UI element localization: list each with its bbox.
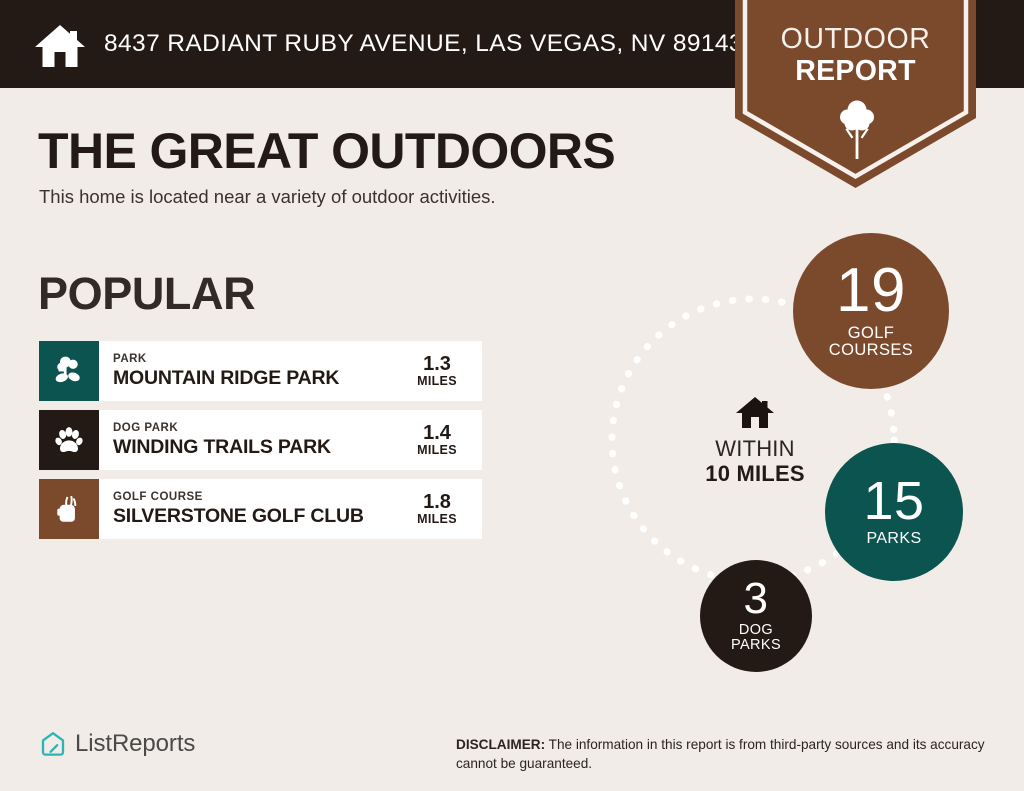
list-item-category: DOG PARK <box>113 422 398 435</box>
stat-value: 15 <box>863 476 924 527</box>
disclaimer: DISCLAIMER: The information in this repo… <box>456 735 996 774</box>
list-item-name: SILVERSTONE GOLF CLUB <box>113 506 398 527</box>
outdoor-report-badge: OUTDOOR REPORT <box>735 0 976 188</box>
popular-list: PARK MOUNTAIN RIDGE PARK 1.3 MILES <box>39 341 482 548</box>
stat-value: 19 <box>836 262 906 321</box>
list-item-category: GOLF COURSE <box>113 491 398 504</box>
stat-label-line2: PARKS <box>731 638 781 653</box>
stat-bubble-dog-parks[interactable]: 3 DOG PARKS <box>700 560 812 672</box>
home-icon <box>34 22 86 70</box>
outdoor-report-page: 8437 RADIANT RUBY AVENUE, LAS VEGAS, NV … <box>0 0 1024 791</box>
list-item-text: GOLF COURSE SILVERSTONE GOLF CLUB <box>99 479 398 539</box>
list-item-text: DOG PARK WINDING TRAILS PARK <box>99 410 398 470</box>
list-item-distance: 1.3 MILES <box>398 341 482 401</box>
distance-value: 1.8 <box>423 492 451 513</box>
listreports-logo[interactable]: ListReports <box>40 730 195 758</box>
within-10-miles-diagram: WITHIN 10 MILES 19 GOLF COURSES 15 PARKS… <box>560 215 1000 685</box>
list-item-name: MOUNTAIN RIDGE PARK <box>113 368 398 389</box>
tree-icon <box>840 98 874 160</box>
stat-label-line1: DOG <box>739 623 773 638</box>
list-item-distance: 1.4 MILES <box>398 410 482 470</box>
paw-print-icon <box>39 410 99 470</box>
stat-bubble-parks[interactable]: 15 PARKS <box>825 443 963 581</box>
golf-bag-icon <box>39 479 99 539</box>
home-icon <box>735 395 775 430</box>
stat-label-line1: GOLF <box>848 325 895 342</box>
popular-section-heading: POPULAR <box>38 268 255 320</box>
trees-icon <box>39 341 99 401</box>
stat-bubble-golf-courses[interactable]: 19 GOLF COURSES <box>793 233 949 389</box>
distance-unit: MILES <box>417 513 457 527</box>
property-address: 8437 RADIANT RUBY AVENUE, LAS VEGAS, NV … <box>104 30 743 58</box>
listreports-house-icon <box>40 731 66 757</box>
distance-value: 1.3 <box>423 354 451 375</box>
center-callout: WITHIN 10 MILES <box>665 395 845 487</box>
list-item[interactable]: DOG PARK WINDING TRAILS PARK 1.4 MILES <box>39 410 482 470</box>
disclaimer-label: DISCLAIMER: <box>456 737 545 752</box>
list-item[interactable]: PARK MOUNTAIN RIDGE PARK 1.3 MILES <box>39 341 482 401</box>
distance-unit: MILES <box>417 444 457 458</box>
badge-subtitle: REPORT <box>735 56 976 87</box>
list-item-name: WINDING TRAILS PARK <box>113 437 398 458</box>
distance-value: 1.4 <box>423 423 451 444</box>
stat-label-line1: PARKS <box>866 531 921 548</box>
stat-label-line2: COURSES <box>829 342 913 359</box>
page-title: THE GREAT OUTDOORS <box>38 122 615 180</box>
page-subtitle: This home is located near a variety of o… <box>39 186 496 208</box>
list-item-text: PARK MOUNTAIN RIDGE PARK <box>99 341 398 401</box>
center-callout-line2: 10 MILES <box>665 461 845 486</box>
center-callout-line1: WITHIN <box>665 436 845 461</box>
listreports-wordmark: ListReports <box>75 730 195 758</box>
badge-title: OUTDOOR <box>735 24 976 55</box>
list-item[interactable]: GOLF COURSE SILVERSTONE GOLF CLUB 1.8 MI… <box>39 479 482 539</box>
list-item-distance: 1.8 MILES <box>398 479 482 539</box>
stat-value: 3 <box>744 578 769 620</box>
list-item-category: PARK <box>113 353 398 366</box>
distance-unit: MILES <box>417 375 457 389</box>
